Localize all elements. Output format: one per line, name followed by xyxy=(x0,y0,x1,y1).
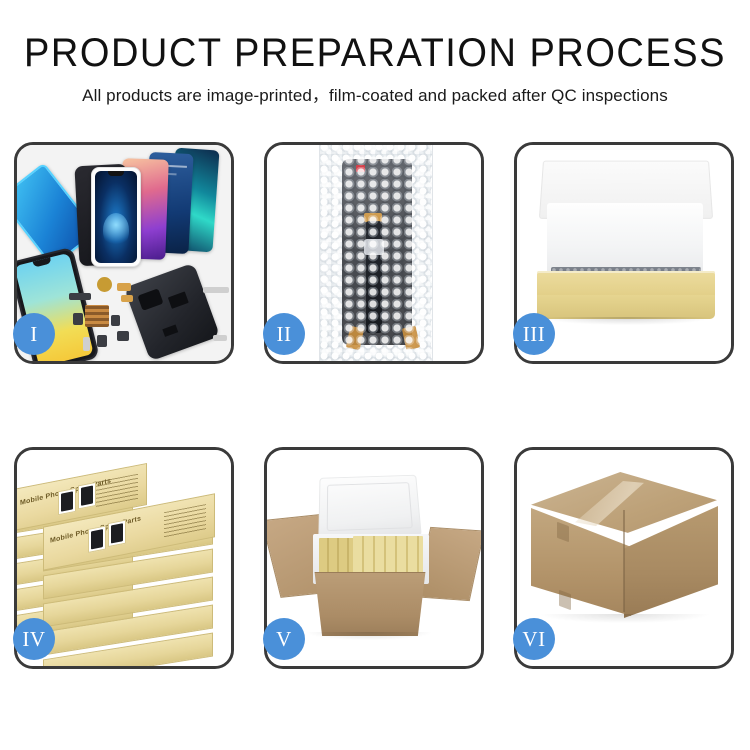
small-ic-part xyxy=(73,313,83,325)
flex-cable-part-2 xyxy=(121,295,133,302)
box-window-screen-back-2 xyxy=(81,485,93,505)
bubble-texture-overlay xyxy=(320,145,432,361)
carton-shadow-5 xyxy=(307,632,431,640)
process-step-panel-2: II xyxy=(264,142,484,364)
process-step-panel-3: III xyxy=(514,142,734,364)
speaker-part xyxy=(117,331,129,341)
step-badge-4: IV xyxy=(13,618,55,660)
page-title: PRODUCT PREPARATION PROCESS xyxy=(19,30,732,76)
tool-part xyxy=(203,287,229,293)
step-badge-1: I xyxy=(13,313,55,355)
black-strip-part xyxy=(69,293,91,300)
camera-module-part xyxy=(83,337,90,351)
box-window-back-1 xyxy=(58,488,76,515)
step-badge-3: III xyxy=(513,313,555,355)
process-step-grid: I II xyxy=(14,142,736,669)
foam-box-lid xyxy=(318,475,421,540)
box-window-screen-back-1 xyxy=(61,491,73,511)
screen-notch xyxy=(108,171,124,176)
step-badge-5: V xyxy=(263,618,305,660)
screwdriver-part xyxy=(213,335,227,341)
box-window-front-2 xyxy=(108,520,126,547)
process-step-panel-1: I xyxy=(14,142,234,364)
white-frame-screen xyxy=(91,167,141,267)
box-window-back-2 xyxy=(78,482,96,509)
box-window-screen-front-1 xyxy=(91,529,103,549)
carton-shadow-6 xyxy=(541,614,709,623)
step-badge-6: VI xyxy=(513,618,555,660)
vibrator-part xyxy=(97,335,107,347)
bubble-wrap-bag xyxy=(319,145,433,361)
process-step-panel-6: VI xyxy=(514,447,734,669)
small-ic-part-2 xyxy=(111,315,120,326)
connector-grid-part xyxy=(85,305,109,327)
screen-wallpaper xyxy=(95,171,137,263)
step-badge-2: II xyxy=(263,313,305,355)
flex-cable-part xyxy=(117,283,131,291)
box-window-front-1 xyxy=(88,525,106,552)
box-spec-lines-front xyxy=(164,504,206,538)
carton-corner-seam xyxy=(623,510,625,612)
process-step-panel-5: V xyxy=(264,447,484,669)
gold-coil-part xyxy=(97,277,112,292)
process-step-panel-4: Mobile Phone Spare Parts Mobile Phone Sp… xyxy=(14,447,234,669)
carton-front-wall xyxy=(307,572,433,636)
gold-carton-front-wall xyxy=(537,295,715,319)
page-subtitle: All products are image-printed，film-coat… xyxy=(0,84,750,108)
box-window-screen-front-2 xyxy=(111,523,123,543)
foam-sheet xyxy=(547,203,703,277)
gold-boxes-row-front xyxy=(353,536,423,576)
page-header: PRODUCT PREPARATION PROCESS All products… xyxy=(0,0,750,108)
carton-shadow xyxy=(543,317,711,325)
